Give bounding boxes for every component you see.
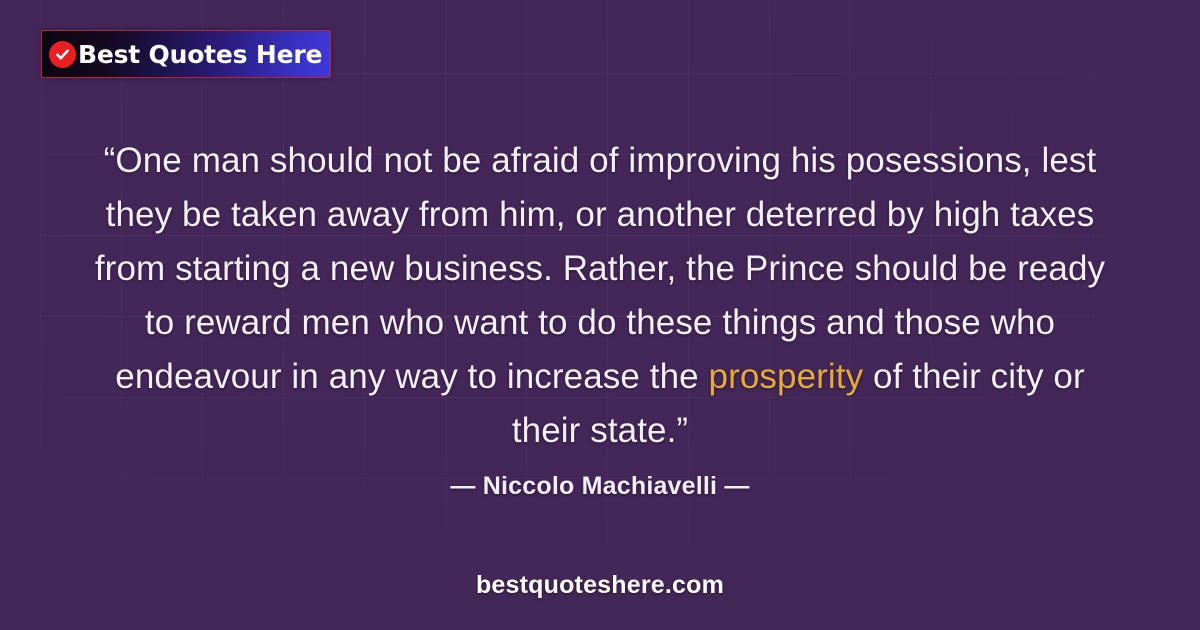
- quote-line-text: from starting a new business. Rather, th…: [95, 249, 1105, 288]
- quote-block: “One man should not be afraid of improvi…: [70, 134, 1130, 458]
- quote-line-text: their state.”: [512, 411, 688, 450]
- footer-website-url[interactable]: bestquoteshere.com: [0, 571, 1200, 600]
- quote-line: their state.”: [70, 404, 1130, 458]
- quote-attribution: — Niccolo Machiavelli —: [0, 472, 1200, 501]
- quote-line: endeavour in any way to increase the pro…: [70, 350, 1130, 404]
- quote-line: to reward men who want to do these thing…: [70, 296, 1130, 350]
- quote-line-text: of their city or: [863, 357, 1085, 396]
- quote-line-text: they be taken away from him, or another …: [106, 195, 1095, 234]
- quote-highlight-word: prosperity: [709, 357, 864, 396]
- quote-line-text: to reward men who want to do these thing…: [145, 303, 1055, 342]
- quote-line: from starting a new business. Rather, th…: [70, 242, 1130, 296]
- quote-line: they be taken away from him, or another …: [70, 188, 1130, 242]
- site-logo-text: Best Quotes Here: [78, 42, 322, 67]
- quote-line: “One man should not be afraid of improvi…: [70, 134, 1130, 188]
- check-circle-icon: [49, 41, 76, 68]
- quote-card: Best Quotes Here “One man should not be …: [0, 0, 1200, 630]
- quote-line-text: “One man should not be afraid of improvi…: [104, 141, 1097, 180]
- quote-line-text: endeavour in any way to increase the: [115, 357, 708, 396]
- site-logo-badge[interactable]: Best Quotes Here: [41, 30, 331, 78]
